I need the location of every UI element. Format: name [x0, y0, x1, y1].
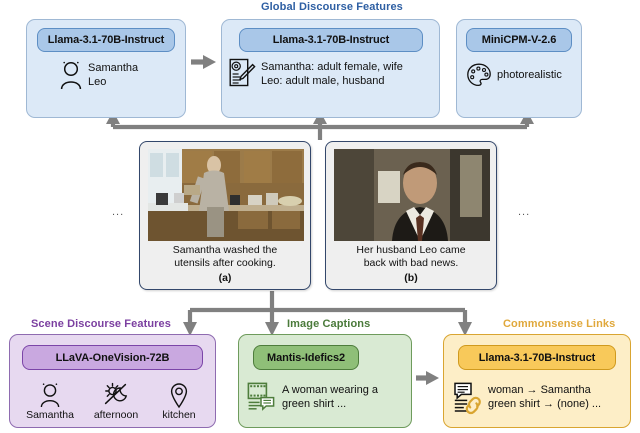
ellipsis-left: ... — [112, 206, 124, 218]
model-chip-llama-entities[interactable]: Llama-3.1-70B-Instruct — [37, 28, 175, 52]
arrow-global-a-to-b — [191, 55, 216, 69]
section-title-image-captions: Image Captions — [287, 318, 370, 330]
example-thumbnail-a — [148, 149, 304, 241]
palette-icon — [466, 62, 492, 88]
example-caption-a: Samantha washed the utensils after cooki… — [144, 244, 306, 270]
example-thumbnail-b — [334, 149, 490, 241]
commonsense-link-line-1: woman → Samantha — [488, 383, 601, 397]
image-captions-content: A woman wearing a green shirt ... — [247, 381, 378, 413]
example-card-a[interactable]: Samantha washed the utensils after cooki… — [139, 141, 311, 290]
model-chip-llama-links[interactable]: Llama-3.1-70B-Instruct — [458, 345, 616, 370]
profile-document-icon — [229, 58, 255, 90]
scene-feature-character: Samantha — [14, 382, 86, 421]
example-label-b: (b) — [326, 272, 496, 284]
person-icon — [40, 382, 60, 408]
commonsense-links-content: woman → Samantha green shirt → (none) ..… — [453, 381, 601, 413]
scene-feature-character-label: Samantha — [14, 409, 86, 421]
section-title-global-discourse-features: Global Discourse Features — [261, 1, 403, 13]
model-chip-llava-onevision[interactable]: LLaVA-OneVision-72B — [22, 345, 203, 370]
location-pin-icon — [169, 382, 189, 408]
example-caption-b: Her husband Leo came back with bad news. — [330, 244, 492, 270]
global-attributes-content: Samantha: adult female, wife Leo: adult … — [229, 58, 403, 90]
example-caption-b-line-1: Her husband Leo came — [330, 244, 492, 257]
global-entity-line-2: Leo — [88, 75, 138, 89]
scene-feature-time-label: afternoon — [80, 409, 152, 421]
example-caption-b-line-2: back with bad news. — [330, 257, 492, 270]
model-chip-minicpm[interactable]: MiniCPM-V-2.6 — [466, 28, 572, 52]
global-entities-content: Samantha Leo — [60, 60, 138, 90]
image-caption-line-1: A woman wearing a — [282, 383, 378, 397]
global-entity-line-1: Samantha — [88, 61, 138, 75]
global-attribute-line-1: Samantha: adult female, wife — [261, 60, 403, 74]
model-chip-llama-attributes[interactable]: Llama-3.1-70B-Instruct — [239, 28, 423, 52]
section-title-scene-discourse-features: Scene Discourse Features — [31, 318, 171, 330]
image-caption-icon — [247, 381, 275, 413]
model-chip-mantis-idefics2[interactable]: Mantis-Idefics2 — [253, 345, 359, 370]
global-attribute-line-2: Leo: adult male, husband — [261, 74, 403, 88]
section-title-commonsense-links: Commonsense Links — [503, 318, 615, 330]
example-label-a: (a) — [140, 272, 310, 284]
scene-feature-place: kitchen — [143, 382, 215, 421]
ellipsis-right: ... — [518, 206, 530, 218]
afternoon-icon — [103, 382, 129, 408]
commonsense-link-line-2: green shirt → (none) ... — [488, 397, 601, 411]
speech-link-icon — [453, 381, 481, 413]
image-caption-line-2: green shirt ... — [282, 397, 378, 411]
global-style-line-1: photorealistic — [497, 68, 562, 82]
example-caption-a-line-2: utensils after cooking. — [144, 257, 306, 270]
global-style-content: photorealistic — [466, 62, 562, 88]
scene-feature-time: afternoon — [80, 382, 152, 421]
example-card-b[interactable]: Her husband Leo came back with bad news.… — [325, 141, 497, 290]
person-icon — [60, 60, 82, 90]
example-caption-a-line-1: Samantha washed the — [144, 244, 306, 257]
arrow-captions-to-links — [416, 371, 439, 385]
scene-feature-place-label: kitchen — [143, 409, 215, 421]
